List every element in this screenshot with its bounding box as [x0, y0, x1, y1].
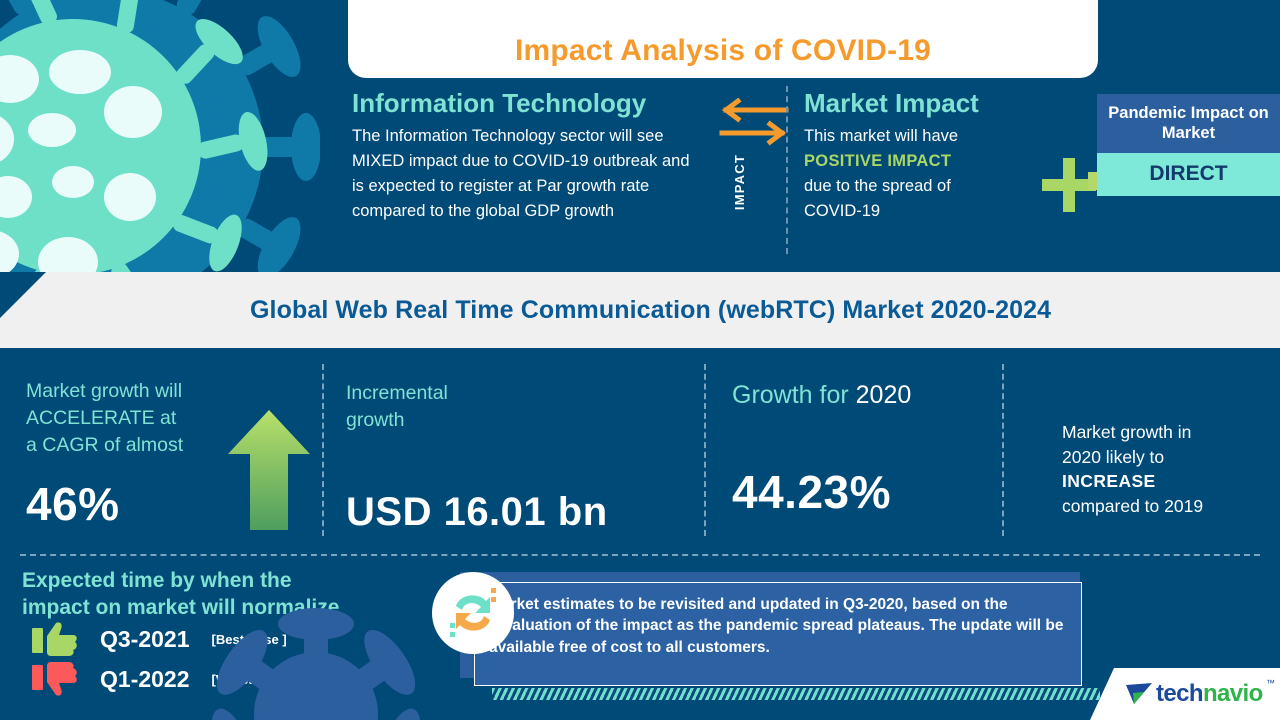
- cagr-value: 46%: [26, 477, 246, 531]
- stats-divider-1: [322, 364, 324, 536]
- note-block: Market estimates to be revisited and upd…: [460, 572, 1080, 694]
- impact-label-top: IMPACT: [732, 154, 747, 210]
- case-worst-quarter: Q1-2022: [100, 666, 190, 693]
- logo-text-part1: tech: [1156, 680, 1203, 707]
- stat-impact-2020: Market growth in 2020 likely to INCREASE…: [1062, 420, 1267, 518]
- bidirectional-arrows-icon: [718, 98, 790, 148]
- pandemic-impact-box: Pandemic Impact on Market DIRECT: [1097, 94, 1280, 196]
- market-line-2: due to the spread of: [804, 177, 951, 195]
- impact-2020-highlight: INCREASE: [1062, 471, 1156, 491]
- cagr-lead: Market growth will ACCELERATE at a CAGR …: [26, 378, 246, 459]
- market-impact-block: Market Impact This market will have POSI…: [804, 88, 1019, 224]
- growth-2020-year: 2020: [856, 381, 912, 409]
- impact-2020-line-2: 2020 likely to: [1062, 447, 1164, 467]
- impact-2020-line-3: compared to 2019: [1062, 496, 1203, 516]
- note-text: Market estimates to be revisited and upd…: [489, 594, 1067, 658]
- virus-ghost-watermark: [196, 574, 486, 720]
- page-title: Impact Analysis of COVID-19: [515, 34, 931, 68]
- logo-trademark: ™: [1266, 678, 1275, 688]
- impact-divider-top: IMPACT: [712, 92, 790, 252]
- stat-cagr: Market growth will ACCELERATE at a CAGR …: [26, 378, 246, 531]
- note-hatch-decoration: [492, 688, 1100, 700]
- title-card: Impact Analysis of COVID-19: [348, 0, 1098, 78]
- pandemic-accent-tab: [1088, 172, 1097, 190]
- stat-incremental-growth: Incremental growth USD 16.01 bn: [346, 380, 586, 535]
- note-box: Market estimates to be revisited and upd…: [474, 582, 1082, 686]
- market-line-1: This market will have: [804, 127, 958, 145]
- sector-block: Information Technology The Information T…: [352, 88, 702, 224]
- thumbs-up-icon: [32, 622, 78, 656]
- market-line-3: COVID-19: [804, 202, 880, 220]
- market-heading: Market Impact: [804, 88, 1019, 119]
- pandemic-heading: Pandemic Impact on Market: [1097, 94, 1280, 153]
- stats-divider-2: [704, 364, 706, 536]
- brand-logo: technavio ™: [1090, 668, 1280, 720]
- sector-body: The Information Technology sector will s…: [352, 124, 702, 224]
- market-body: This market will have POSITIVE IMPACT du…: [804, 124, 1019, 224]
- infographic-canvas: Impact Analysis of COVID-19 Information …: [0, 0, 1280, 720]
- stat-growth-2020: Growth for 2020 44.23%: [732, 378, 1012, 519]
- case-best-quarter: Q3-2021: [100, 626, 190, 653]
- technavio-logo-icon: [1126, 682, 1154, 706]
- top-band: Impact Analysis of COVID-19 Information …: [0, 0, 1280, 272]
- impact-2020-text: Market growth in 2020 likely to INCREASE…: [1062, 420, 1267, 518]
- cagr-lead-line-1: Market growth will: [26, 380, 182, 402]
- bottom-section: Expected time by when the impact on mark…: [0, 554, 1280, 720]
- cagr-lead-line-2: ACCELERATE at: [26, 407, 176, 429]
- incremental-lead-line-2: growth: [346, 409, 405, 431]
- key-stats-row: Market growth will ACCELERATE at a CAGR …: [0, 348, 1280, 554]
- thumbs-down-icon: [32, 662, 78, 696]
- growth-2020-lead-prefix: Growth for: [732, 381, 856, 409]
- report-title: Global Web Real Time Communication (webR…: [250, 296, 1051, 325]
- sector-heading: Information Technology: [352, 88, 702, 119]
- impact-2020-line-1: Market growth in: [1062, 422, 1191, 442]
- top-dashed-divider: [786, 86, 788, 254]
- incremental-lead-line-1: Incremental: [346, 382, 448, 404]
- market-highlight: POSITIVE IMPACT: [804, 152, 951, 170]
- arrow-up-icon: [228, 410, 310, 530]
- growth-2020-value: 44.23%: [732, 465, 1012, 519]
- pandemic-value: DIRECT: [1097, 153, 1280, 196]
- logo-wordmark: technavio: [1156, 680, 1263, 708]
- report-title-strip: Global Web Real Time Communication (webR…: [0, 272, 1280, 348]
- bottom-dashed-divider: [20, 554, 1260, 556]
- cagr-lead-line-3: a CAGR of almost: [26, 434, 183, 456]
- incremental-value: USD 16.01 bn: [346, 490, 586, 535]
- growth-2020-lead: Growth for 2020: [732, 378, 1012, 413]
- strip-corner-decoration: [0, 272, 46, 318]
- logo-text-part2: navio: [1203, 680, 1263, 707]
- incremental-lead: Incremental growth: [346, 380, 586, 434]
